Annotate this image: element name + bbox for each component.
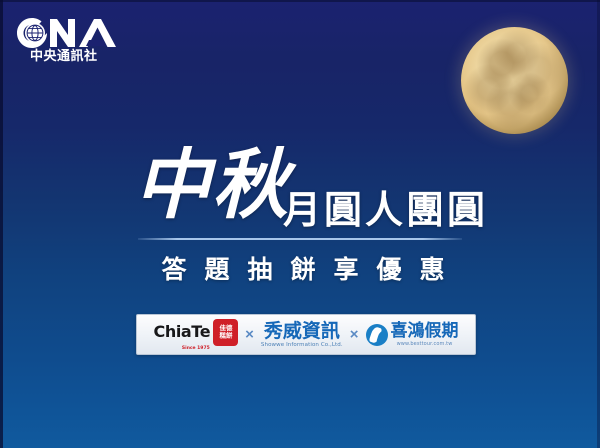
subtitle-text: 答題抽餅享優惠 xyxy=(138,250,468,286)
sponsor-bar: ChiaTe 佳德糕餅 Since 1975 × 秀威資訊 Showwe Inf… xyxy=(136,314,476,355)
divider-line xyxy=(138,238,462,240)
besttour-lockup: 喜鴻假期 www.besttour.com.tw xyxy=(391,322,459,347)
sponsor-logo-showwe[interactable]: 秀威資訊 Showwe Information Co.,Ltd. xyxy=(261,321,343,349)
chiate-since-label: Since 1975 xyxy=(153,346,238,351)
chiate-seal-icon: 佳德糕餅 xyxy=(213,319,238,346)
chiate-lockup: ChiaTe 佳德糕餅 Since 1975 xyxy=(153,319,238,351)
showwe-name-zh: 秀威資訊 xyxy=(264,321,340,341)
mid-autumn-festival-poster: 中央通訊社 中秋 月圓人團圓 答題抽餅享優惠 ChiaTe 佳德糕餅 Since… xyxy=(0,0,600,448)
headline-group: 中秋 月圓人團圓 xyxy=(0,145,600,235)
cna-logo[interactable]: 中央通訊社 xyxy=(16,14,120,72)
moon-limb-shading xyxy=(461,27,568,134)
full-moon-icon xyxy=(461,27,568,134)
headline-main: 中秋 xyxy=(134,145,290,225)
swoosh-icon xyxy=(366,324,388,346)
chiate-seal-glyphs: 佳德糕餅 xyxy=(219,325,232,340)
sponsor-separator-2: × xyxy=(350,327,359,342)
sponsor-separator-1: × xyxy=(245,327,254,342)
chiate-name-en: ChiaTe xyxy=(153,324,210,340)
cna-wordmark-icon xyxy=(16,14,120,52)
besttour-url: www.besttour.com.tw xyxy=(397,342,453,347)
besttour-name-zh: 喜鴻假期 xyxy=(391,322,459,340)
sponsor-logo-chiate[interactable]: ChiaTe 佳德糕餅 Since 1975 xyxy=(153,319,238,351)
showwe-name-en: Showwe Information Co.,Ltd. xyxy=(261,343,343,349)
headline-secondary: 月圓人團圓 xyxy=(283,189,488,231)
sponsor-logo-besttour[interactable]: 喜鴻假期 www.besttour.com.tw xyxy=(366,322,459,347)
cna-name-zh: 中央通訊社 xyxy=(30,50,98,63)
